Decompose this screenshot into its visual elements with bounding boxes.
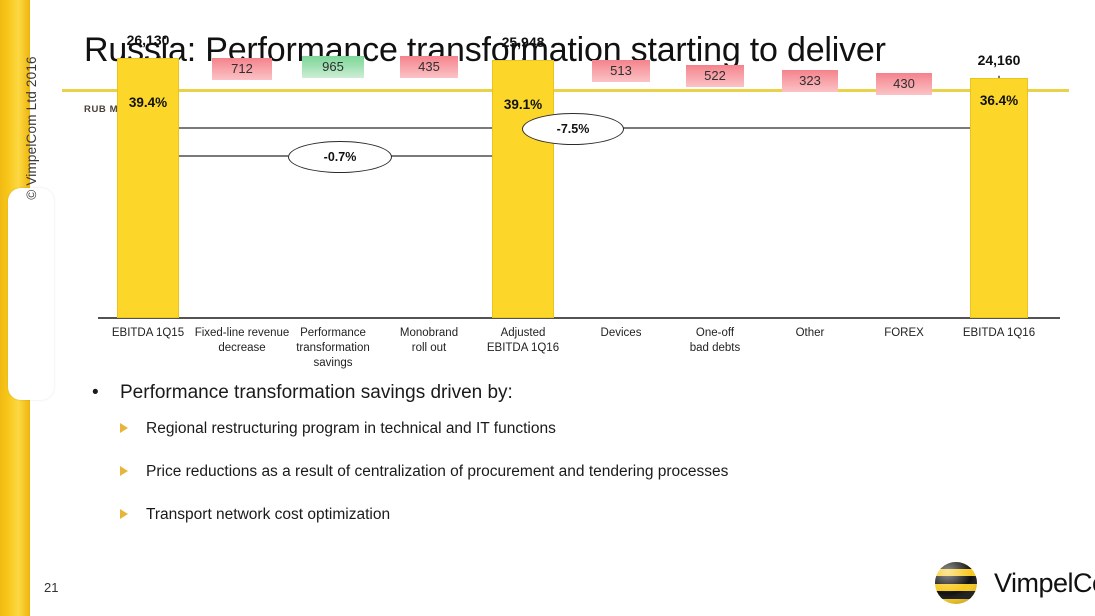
bar-delta-label: 430 xyxy=(876,76,932,91)
bar-delta-label: 323 xyxy=(782,73,838,88)
bar-margin-label: 39.4% xyxy=(118,95,178,110)
bar-total-label: 26,130 xyxy=(97,32,199,48)
bar-total-label: 24,160 xyxy=(950,52,1048,68)
bar-forex: 430 xyxy=(876,73,932,95)
sub-bullet-text: Regional restructuring program in techni… xyxy=(146,420,556,437)
category-label: EBITDA 1Q16 xyxy=(946,326,1052,341)
callout-total-change: -7.5% xyxy=(522,113,624,145)
bar-one-off-bad-debts: 522 xyxy=(686,65,744,87)
bar-monobrand-roll-out: 435 xyxy=(400,56,458,78)
category-label: Devices xyxy=(568,326,674,341)
bullet-lead-text: Performance transformation savings drive… xyxy=(120,382,513,403)
waterfall-chart: RUB MILLION 26,13039.4%71296543525,94839… xyxy=(0,0,1095,380)
triangle-bullet-icon xyxy=(120,466,128,476)
category-label: FOREX xyxy=(852,326,956,341)
callout-adjusted-change: -0.7% xyxy=(288,141,392,173)
bar-delta-label: 712 xyxy=(212,61,272,76)
bee-sphere-icon xyxy=(928,558,984,608)
bar-devices: 513 xyxy=(592,60,650,82)
bullet-lead: • Performance transformation savings dri… xyxy=(84,380,1044,406)
bar-delta-label: 513 xyxy=(592,63,650,78)
sub-bullet: Transport network cost optimization xyxy=(84,504,1044,526)
bar-delta-label: 435 xyxy=(400,59,458,74)
vimpelcom-logo: VimpelCom xyxy=(928,558,1095,608)
logo-wordmark: VimpelCom xyxy=(994,568,1095,599)
bar-total-label: 25,948 xyxy=(472,34,574,50)
bar-other: 323 xyxy=(782,70,838,92)
bullet-list: • Performance transformation savings dri… xyxy=(84,380,1044,547)
bar-ebitda-1q15: 39.4% xyxy=(117,58,179,318)
bar-margin-label: 36.4% xyxy=(971,93,1027,108)
category-label: Other xyxy=(758,326,862,341)
page-number: 21 xyxy=(44,580,58,595)
category-label: One-offbad debts xyxy=(662,326,768,356)
sub-bullet: Regional restructuring program in techni… xyxy=(84,418,1044,440)
category-label: AdjustedEBITDA 1Q16 xyxy=(468,326,578,356)
sub-bullet: Price reductions as a result of centrali… xyxy=(84,461,1044,483)
category-label: Performancetransformationsavings xyxy=(278,326,388,371)
sub-bullet-text: Transport network cost optimization xyxy=(146,506,390,523)
category-label: EBITDA 1Q15 xyxy=(93,326,203,341)
bar-adjusted-ebitda-1q16: 39.1% xyxy=(492,60,554,318)
bar-fixed-line-revenue-decrease: 712 xyxy=(212,58,272,80)
bar-margin-label: 39.1% xyxy=(493,97,553,112)
bar-performance-transformation-savings: 965 xyxy=(302,56,364,78)
category-label: Monobrandroll out xyxy=(376,326,482,356)
bar-ebitda-1q16: 36.4% xyxy=(970,78,1028,318)
sub-bullet-text: Price reductions as a result of centrali… xyxy=(146,463,728,480)
triangle-bullet-icon xyxy=(120,423,128,433)
bar-delta-label: 965 xyxy=(302,59,364,74)
bar-delta-label: 522 xyxy=(686,68,744,83)
triangle-bullet-icon xyxy=(120,509,128,519)
bullet-dot-icon: • xyxy=(92,380,99,406)
